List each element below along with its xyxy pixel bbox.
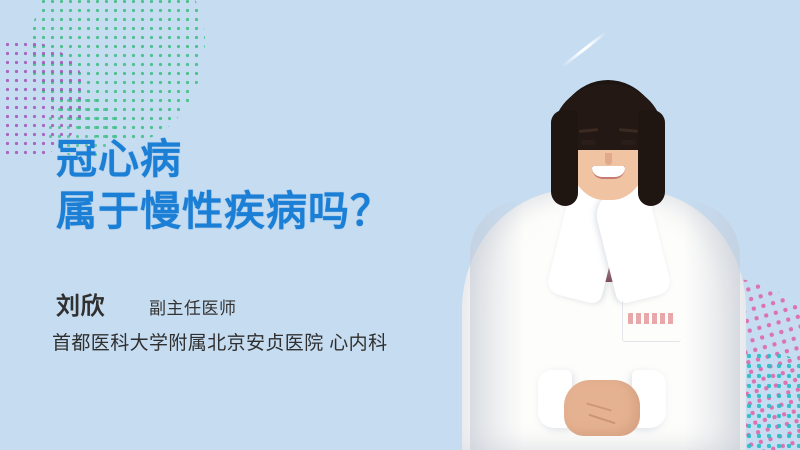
doctor-name: 刘欣 (56, 286, 105, 321)
doctor-rank: 副主任医师 (149, 294, 237, 319)
eye-left (581, 140, 596, 145)
doctor-affiliation: 首都医科大学附属北京安贞医院 心内科 (52, 328, 387, 355)
pocket-embroidery-text (628, 313, 676, 324)
hair-side-right (638, 110, 665, 206)
hair-side-left (551, 110, 578, 206)
question-title-line2: 属于慢性疾病吗？ (56, 184, 392, 238)
question-title-line1: 冠心病 (56, 132, 182, 186)
video-thumbnail-card: 冠心病 属于慢性疾病吗？ 刘欣 副主任医师 首都医科大学附属北京安贞医院 心内科 (0, 0, 800, 450)
nose (605, 153, 612, 165)
eye-right (621, 140, 636, 145)
mouth-smile (592, 166, 625, 179)
coat-shadow-right (684, 200, 740, 450)
text-overlay: 冠心病 属于慢性疾病吗？ 刘欣 副主任医师 首都医科大学附属北京安贞医院 心内科 (0, 0, 480, 450)
doctor-name-row: 刘欣 副主任医师 (56, 286, 237, 321)
doctor-portrait (454, 0, 754, 450)
